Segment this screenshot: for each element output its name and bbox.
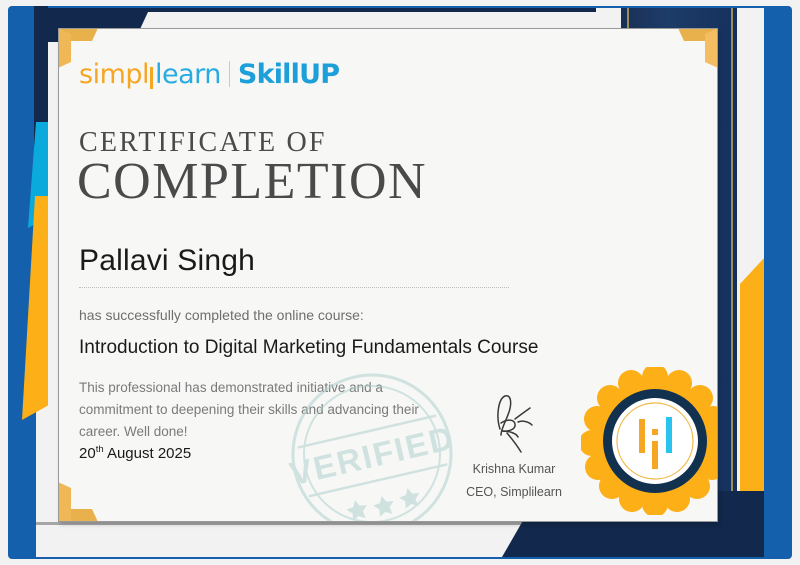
left-color-bands <box>8 6 48 559</box>
certificate-card: simpl learn SkillUP CERTIFICATE OF COMPL… <box>58 28 718 522</box>
logo-simpl-text: simpl <box>79 61 149 88</box>
logo-divider <box>229 61 230 87</box>
recipient-name: Pallavi Singh <box>79 244 255 278</box>
signatory-role: CEO, Simplilearn <box>444 485 584 499</box>
course-title: Introduction to Digital Marketing Fundam… <box>79 337 538 359</box>
logo-i-stem-icon <box>149 61 154 88</box>
band-gold-line-right <box>731 8 733 557</box>
issue-date-rest: August 2025 <box>104 445 192 462</box>
signature-block: Krishna Kumar CEO, Simplilearn <box>444 389 584 499</box>
completion-subtitle: has successfully completed the online co… <box>79 307 364 323</box>
left-band-orange <box>22 196 48 420</box>
handwritten-signature-icon <box>474 389 554 453</box>
recipient-underline <box>79 287 509 288</box>
simplilearn-skillup-logo: simpl learn SkillUP <box>79 57 339 91</box>
logo-learn-text: learn <box>155 61 221 88</box>
issue-date: 20th August 2025 <box>79 444 191 462</box>
corner-bracket-bottom-left <box>58 482 98 522</box>
certificate: simpl learn SkillUP CERTIFICATE OF COMPL… <box>0 0 800 565</box>
issue-date-ordinal: th <box>96 444 104 455</box>
signatory-name: Krishna Kumar <box>444 462 584 476</box>
completion-seal <box>581 367 718 515</box>
corner-bracket-top-right <box>678 28 718 68</box>
stamp-stars-icon <box>345 486 423 522</box>
certificate-title-line2: COMPLETION <box>77 153 427 210</box>
logo-skillup-text: SkillUP <box>238 61 339 88</box>
issue-date-day: 20 <box>79 445 96 462</box>
